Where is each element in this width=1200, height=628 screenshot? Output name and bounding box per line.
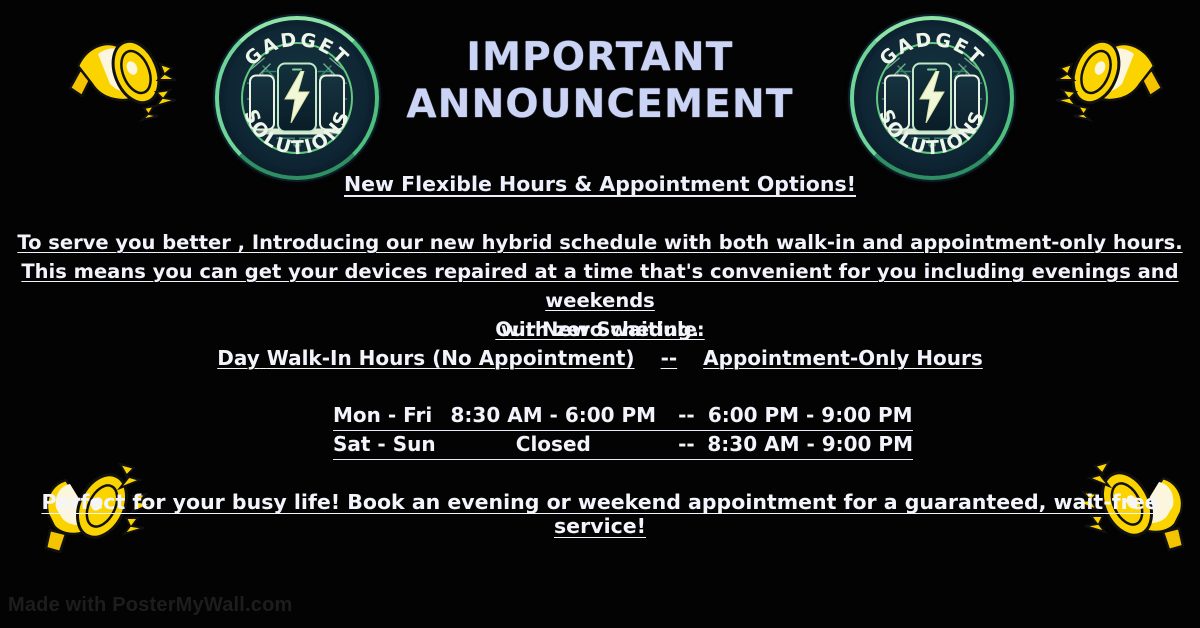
body-line: To serve you better , Introducing our ne…: [0, 228, 1200, 257]
row-separator: --: [665, 402, 707, 431]
megaphone-icon-top-right: [1040, 26, 1180, 131]
row-walkin: Closed: [441, 431, 665, 460]
schedule-table: Mon - Fri 8:30 AM - 6:00 PM -- 6:00 PM -…: [333, 402, 913, 460]
schedule-header-day: Day: [217, 346, 260, 370]
subtitle: New Flexible Hours & Appointment Options…: [0, 172, 1200, 196]
table-row: Sat - Sun Closed -- 8:30 AM - 9:00 PM: [333, 431, 913, 460]
poster-canvas: GADGET SOLUTIONS: [0, 0, 1200, 628]
postermywall-watermark: Made with PosterMyWall.com: [8, 594, 293, 617]
row-day: Sat - Sun: [333, 431, 441, 460]
footer-cta: Perfect for your busy life! Book an even…: [0, 490, 1200, 538]
schedule-column-header: Day Walk-In Hours (No Appointment)--Appo…: [0, 346, 1200, 370]
row-appointment: 8:30 AM - 9:00 PM: [707, 431, 913, 460]
logo-outer-ring: [850, 16, 1014, 180]
row-appointment: 6:00 PM - 9:00 PM: [707, 402, 913, 431]
row-day: Mon - Fri: [333, 402, 441, 431]
brand-logo-left: GADGET SOLUTIONS: [213, 14, 381, 182]
title-line-2: ANNOUNCEMENT: [390, 81, 810, 128]
row-separator: --: [665, 431, 707, 460]
brand-logo-right: GADGET SOLUTIONS: [848, 14, 1016, 182]
schedule-header-walkin: Walk-In Hours (No Appointment): [267, 346, 635, 370]
logo-outer-ring: [215, 16, 379, 180]
page-title: IMPORTANT ANNOUNCEMENT: [390, 34, 810, 128]
schedule-header-appointment: Appointment-Only Hours: [703, 346, 983, 370]
schedule-header-separator: --: [635, 346, 704, 370]
body-line: This means you can get your devices repa…: [0, 257, 1200, 315]
schedule-heading: Our New Schedule:: [0, 318, 1200, 341]
schedule-header-spacer: [260, 346, 267, 370]
megaphone-icon-top-left: [52, 26, 192, 131]
row-walkin: 8:30 AM - 6:00 PM: [441, 402, 665, 431]
title-line-1: IMPORTANT: [390, 34, 810, 81]
table-row: Mon - Fri 8:30 AM - 6:00 PM -- 6:00 PM -…: [333, 402, 913, 431]
